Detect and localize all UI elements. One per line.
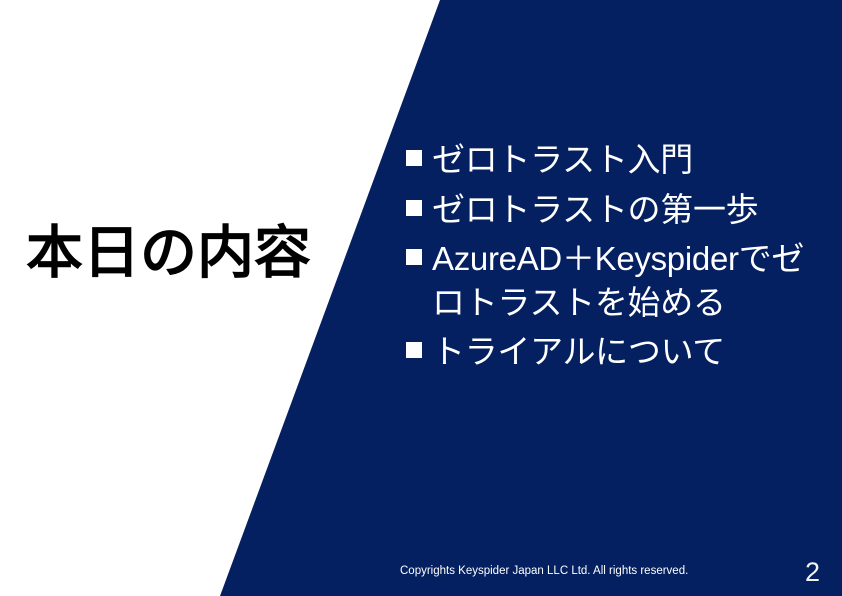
- square-bullet-icon: [406, 150, 422, 166]
- page-title: 本日の内容: [26, 222, 346, 286]
- footer-copyright-text: Copyrights Keyspider Japan LLC Ltd. All …: [400, 565, 688, 577]
- page-number: 2: [805, 559, 820, 586]
- square-bullet-icon: [406, 200, 422, 216]
- list-item-label: トライアルについて: [432, 330, 824, 374]
- list-item-label: ゼロトラストの第一歩: [432, 188, 824, 232]
- list-item-label: ゼロトラスト入門: [432, 138, 824, 182]
- list-item: ゼロトラストの第一歩: [404, 188, 824, 232]
- list-item: トライアルについて: [404, 330, 824, 374]
- square-bullet-icon: [406, 342, 422, 358]
- list-item: ゼロトラスト入門: [404, 138, 824, 182]
- agenda-bullet-list: ゼロトラスト入門 ゼロトラストの第一歩 AzureAD＋Keyspiderでゼロ…: [404, 138, 824, 380]
- square-bullet-icon: [406, 249, 422, 265]
- slide-canvas: 本日の内容 ゼロトラスト入門 ゼロトラストの第一歩 AzureAD＋Keyspi…: [0, 0, 842, 596]
- list-item: AzureAD＋Keyspiderでゼロトラストを始める: [404, 237, 824, 324]
- list-item-label: AzureAD＋Keyspiderでゼロトラストを始める: [432, 237, 824, 324]
